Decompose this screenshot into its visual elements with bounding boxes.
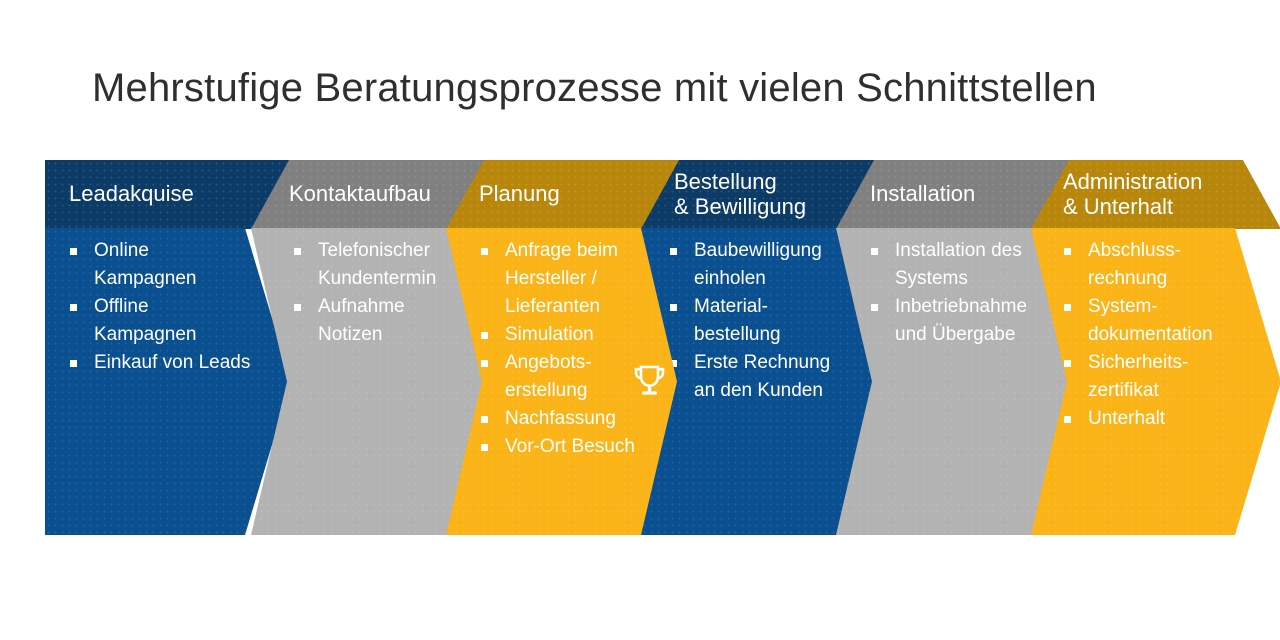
bullet-square-icon: [1064, 416, 1071, 423]
bullet-square-icon: [70, 248, 77, 255]
stage-bullet-list: Installation des Systems Inbetriebnahme …: [864, 237, 1034, 349]
bullet-square-icon: [294, 304, 301, 311]
stage-header-administration[interactable]: Administration & Unterhalt: [1031, 160, 1280, 229]
list-item: Unterhalt: [1057, 405, 1229, 433]
list-item: Simulation: [474, 321, 638, 349]
bullet-square-icon: [481, 444, 488, 451]
bullet-square-icon: [294, 248, 301, 255]
bullet-text: Installation des Systems: [895, 240, 1022, 289]
bullet-text: Abschluss-rechnung: [1088, 240, 1181, 289]
slide-title: Mehrstufige Beratungsprozesse mit vielen…: [92, 64, 1097, 112]
stage-bullet-list: Abschluss-rechnung System-dokumentation …: [1057, 237, 1229, 433]
process-chevron-band: Leadakquise Online Kampagnen Offline Kam…: [0, 155, 1280, 545]
bullet-square-icon: [481, 332, 488, 339]
bullet-text: Unterhalt: [1088, 408, 1165, 429]
stage-title: Installation: [870, 182, 975, 207]
bullet-text: Baubewilligung einholen: [694, 240, 822, 289]
list-item: Nachfassung: [474, 405, 638, 433]
list-item: Vor-Ort Besuch: [474, 433, 638, 461]
list-item: Erste Rechnung an den Kunden: [663, 349, 841, 405]
bullet-text: Vor-Ort Besuch: [505, 436, 635, 457]
bullet-square-icon: [670, 360, 677, 367]
bullet-text: Anfrage beim Hersteller / Lieferanten: [505, 240, 618, 317]
stage-title: Administration & Unterhalt: [1063, 170, 1202, 219]
stage-body-administration: Abschluss-rechnung System-dokumentation …: [1031, 228, 1280, 535]
stage-bullet-list: Online Kampagnen Offline Kampagnen Einka…: [63, 237, 251, 377]
stage-title: Leadakquise: [69, 182, 194, 207]
bullet-text: Einkauf von Leads: [94, 352, 250, 373]
bullet-text: System-dokumentation: [1088, 296, 1213, 345]
bullet-square-icon: [871, 304, 878, 311]
stage-title: Planung: [479, 182, 560, 207]
list-item: Offline Kampagnen: [63, 293, 251, 349]
bullet-text: Erste Rechnung an den Kunden: [694, 352, 830, 401]
list-item: Sicherheits-zertifikat: [1057, 349, 1229, 405]
list-item: System-dokumentation: [1057, 293, 1229, 349]
stage-title: Kontaktaufbau: [289, 182, 431, 207]
process-stage-administration[interactable]: Administration & Unterhalt Abschluss-rec…: [1031, 155, 1280, 545]
list-item: Aufnahme Notizen: [287, 293, 453, 349]
bullet-square-icon: [70, 304, 77, 311]
bullet-square-icon: [1064, 360, 1071, 367]
bullet-square-icon: [670, 304, 677, 311]
bullet-text: Aufnahme Notizen: [318, 296, 405, 345]
list-item: Online Kampagnen: [63, 237, 251, 293]
bullet-text: Nachfassung: [505, 408, 616, 429]
stage-title: Bestellung & Bewilligung: [674, 170, 806, 219]
stage-bullet-list: Baubewilligung einholen Material-bestell…: [663, 237, 841, 405]
bullet-text: Telefonischer Kundentermin: [318, 240, 436, 289]
bullet-text: Angebots-erstellung: [505, 352, 592, 401]
bullet-square-icon: [481, 416, 488, 423]
stage-bullet-list: Telefonischer Kundentermin Aufnahme Noti…: [287, 237, 453, 349]
bullet-square-icon: [1064, 304, 1071, 311]
bullet-square-icon: [1064, 248, 1071, 255]
list-item: Angebots-erstellung: [474, 349, 638, 405]
bullet-text: Online Kampagnen: [94, 240, 196, 289]
list-item: Telefonischer Kundentermin: [287, 237, 453, 293]
list-item: Inbetriebnahme und Übergabe: [864, 293, 1034, 349]
bullet-square-icon: [481, 248, 488, 255]
stage-bullet-list: Anfrage beim Hersteller / Lieferanten Si…: [474, 237, 638, 461]
bullet-square-icon: [871, 248, 878, 255]
list-item: Material-bestellung: [663, 293, 841, 349]
list-item: Baubewilligung einholen: [663, 237, 841, 293]
trophy-icon: [633, 365, 666, 401]
bullet-text: Inbetriebnahme und Übergabe: [895, 296, 1027, 345]
bullet-square-icon: [670, 248, 677, 255]
list-item: Anfrage beim Hersteller / Lieferanten: [474, 237, 638, 321]
bullet-text: Material-bestellung: [694, 296, 781, 345]
list-item: Einkauf von Leads: [63, 349, 251, 377]
bullet-square-icon: [70, 360, 77, 367]
list-item: Installation des Systems: [864, 237, 1034, 293]
bullet-text: Sicherheits-zertifikat: [1088, 352, 1188, 401]
bullet-text: Simulation: [505, 324, 594, 345]
bullet-text: Offline Kampagnen: [94, 296, 196, 345]
bullet-square-icon: [481, 360, 488, 367]
list-item: Abschluss-rechnung: [1057, 237, 1229, 293]
